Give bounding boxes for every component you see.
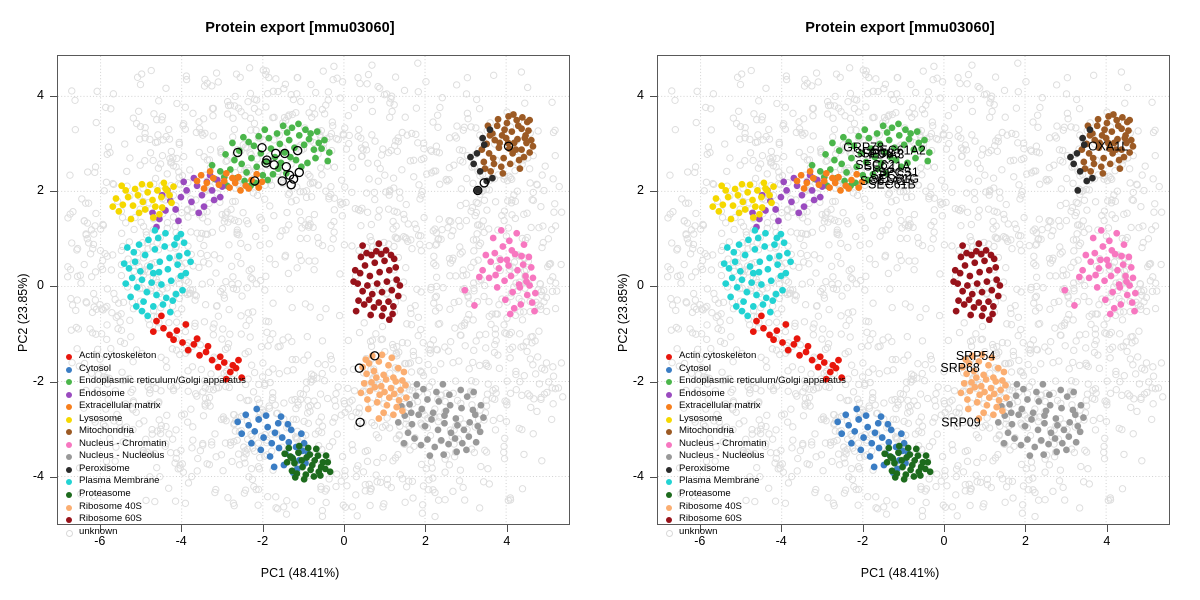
legend-item: Endosome (663, 388, 846, 401)
legend-item-label: Nucleus - Nucleolus (79, 450, 164, 461)
panel-right: Protein export [mmu03060] GRP78SRP72SEC6… (600, 0, 1200, 600)
legend-swatch-icon (66, 467, 72, 473)
legend-swatch-icon (666, 505, 672, 511)
y-tick-label: -2 (0, 374, 44, 388)
legend-swatch-icon (666, 367, 672, 373)
gene-label: SRP68 (940, 361, 979, 375)
legend-swatch-icon (666, 442, 672, 448)
panel-right-legend: Actin cytoskeletonCytosolEndoplasmic ret… (663, 350, 846, 538)
legend-item: Cytosol (63, 363, 246, 376)
x-tick-label: -2 (843, 534, 883, 548)
gene-label: OXA1L (1088, 139, 1128, 153)
legend-item-label: Extracellular matrix (679, 400, 761, 411)
legend-item: Proteasome (663, 488, 846, 501)
y-tick-label: 2 (0, 183, 44, 197)
panel-left-legend: Actin cytoskeletonCytosolEndoplasmic ret… (63, 350, 246, 538)
legend-item: Nucleus - Nucleolus (663, 450, 846, 463)
legend-swatch-icon (666, 492, 672, 498)
x-tick-mark (425, 525, 426, 532)
y-tick-mark (650, 477, 657, 478)
legend-item: Cytosol (663, 363, 846, 376)
legend-item: Nucleus - Chromatin (663, 438, 846, 451)
legend-item-label: Endoplasmic reticulum/Golgi apparatus (79, 375, 246, 386)
legend-item: Mitochondria (63, 425, 246, 438)
legend-item: Lysosome (63, 413, 246, 426)
legend-swatch-icon (666, 354, 672, 360)
x-tick-label: 0 (924, 534, 964, 548)
legend-item: Actin cytoskeleton (663, 350, 846, 363)
legend-item-label: Ribosome 40S (79, 501, 142, 512)
legend-swatch-icon (666, 467, 672, 473)
legend-item: Nucleus - Nucleolus (63, 450, 246, 463)
legend-swatch-icon (66, 404, 72, 410)
legend-item: Mitochondria (663, 425, 846, 438)
legend-item: Actin cytoskeleton (63, 350, 246, 363)
legend-item: Peroxisome (63, 463, 246, 476)
legend-item: Nucleus - Chromatin (63, 438, 246, 451)
legend-swatch-icon (66, 392, 72, 398)
x-tick-mark (263, 525, 264, 532)
legend-item-label: Endosome (79, 388, 125, 399)
legend-item-label: Endoplasmic reticulum/Golgi apparatus (679, 375, 846, 386)
y-tick-label: 4 (600, 88, 644, 102)
legend-item-label: Proteasome (679, 488, 731, 499)
y-tick-mark (50, 286, 57, 287)
y-tick-mark (650, 191, 657, 192)
legend-item-label: Ribosome 60S (79, 513, 142, 524)
panel-right-x-axis-label: PC1 (48.41%) (600, 566, 1200, 580)
x-tick-mark (344, 525, 345, 532)
x-tick-label: 2 (405, 534, 445, 548)
legend-item: Extracellular matrix (663, 400, 846, 413)
legend-item: Plasma Membrane (663, 475, 846, 488)
legend-swatch-icon (66, 492, 72, 498)
y-tick-label: -4 (0, 469, 44, 483)
legend-item-label: Peroxisome (79, 463, 130, 474)
legend-item: Ribosome 40S (663, 501, 846, 514)
y-tick-mark (50, 477, 57, 478)
legend-item-label: Nucleus - Chromatin (679, 438, 766, 449)
panel-left-y-axis-label: PC2 (23.85%) (16, 273, 30, 352)
legend-item: unknown (663, 526, 846, 539)
x-tick-label: -2 (243, 534, 283, 548)
y-tick-mark (50, 191, 57, 192)
gene-label: SRP09 (941, 415, 980, 429)
legend-swatch-icon (666, 454, 672, 460)
legend-item: Ribosome 60S (63, 513, 246, 526)
series-ribosome-60s (950, 240, 1003, 323)
legend-item-label: Endosome (679, 388, 725, 399)
legend-swatch-icon (666, 417, 672, 423)
legend-item-label: Mitochondria (79, 425, 134, 436)
y-tick-label: 4 (0, 88, 44, 102)
legend-item-label: unknown (679, 526, 717, 537)
legend-item: Lysosome (663, 413, 846, 426)
legend-item-label: Cytosol (679, 363, 711, 374)
legend-item-label: Extracellular matrix (79, 400, 161, 411)
legend-swatch-icon (666, 517, 672, 523)
legend-item-label: Plasma Membrane (679, 475, 760, 486)
y-tick-mark (650, 382, 657, 383)
legend-item-label: Peroxisome (679, 463, 730, 474)
legend-swatch-icon (66, 417, 72, 423)
legend-item: Ribosome 60S (663, 513, 846, 526)
panel-left-title: Protein export [mmu03060] (0, 20, 600, 36)
y-tick-mark (650, 286, 657, 287)
legend-swatch-icon (666, 530, 673, 537)
legend-swatch-icon (66, 505, 72, 511)
legend-swatch-icon (666, 429, 672, 435)
gene-label: SEC61B (868, 178, 916, 192)
y-tick-mark (650, 96, 657, 97)
legend-item-label: Cytosol (79, 363, 111, 374)
legend-swatch-icon (66, 354, 72, 360)
y-tick-mark (50, 382, 57, 383)
legend-item-label: Nucleus - Nucleolus (679, 450, 764, 461)
x-tick-mark (1107, 525, 1108, 532)
legend-swatch-icon (66, 367, 72, 373)
legend-item-label: Ribosome 40S (679, 501, 742, 512)
legend-item-label: Mitochondria (679, 425, 734, 436)
legend-item: Endoplasmic reticulum/Golgi apparatus (663, 375, 846, 388)
legend-swatch-icon (66, 530, 73, 537)
y-tick-label: 2 (600, 183, 644, 197)
legend-swatch-icon (666, 392, 672, 398)
y-tick-label: -2 (600, 374, 644, 388)
legend-swatch-icon (66, 379, 72, 385)
y-tick-mark (50, 96, 57, 97)
x-tick-mark (863, 525, 864, 532)
legend-swatch-icon (666, 379, 672, 385)
legend-item-label: Nucleus - Chromatin (79, 438, 166, 449)
legend-item: Endoplasmic reticulum/Golgi apparatus (63, 375, 246, 388)
x-tick-mark (507, 525, 508, 532)
y-tick-label: -4 (600, 469, 644, 483)
panel-right-y-axis-label: PC2 (23.85%) (616, 273, 630, 352)
legend-swatch-icon (66, 454, 72, 460)
panel-left: Protein export [mmu03060] -6-4-2024-4-20… (0, 0, 600, 600)
legend-swatch-icon (66, 479, 72, 485)
legend-item: Endosome (63, 388, 246, 401)
legend-item-label: Lysosome (679, 413, 722, 424)
legend-item: Proteasome (63, 488, 246, 501)
legend-item-label: unknown (79, 526, 117, 537)
gene-label: SEC61A2 (871, 144, 926, 158)
legend-item: Extracellular matrix (63, 400, 246, 413)
legend-item: unknown (63, 526, 246, 539)
legend-item-label: Ribosome 60S (679, 513, 742, 524)
series-ribosome-60s (350, 240, 403, 323)
legend-swatch-icon (66, 442, 72, 448)
x-tick-label: 4 (487, 534, 527, 548)
legend-item: Plasma Membrane (63, 475, 246, 488)
x-tick-label: 4 (1087, 534, 1127, 548)
legend-item-label: Proteasome (79, 488, 131, 499)
legend-item-label: Actin cytoskeleton (679, 350, 756, 361)
x-tick-mark (1025, 525, 1026, 532)
legend-swatch-icon (666, 404, 672, 410)
x-tick-label: 0 (324, 534, 364, 548)
legend-item-label: Plasma Membrane (79, 475, 160, 486)
panel-right-title: Protein export [mmu03060] (600, 20, 1200, 36)
legend-item-label: Lysosome (79, 413, 122, 424)
legend-swatch-icon (66, 517, 72, 523)
x-tick-label: 2 (1005, 534, 1045, 548)
legend-item: Peroxisome (663, 463, 846, 476)
legend-item: Ribosome 40S (63, 501, 246, 514)
pca-figure: Protein export [mmu03060] -6-4-2024-4-20… (0, 0, 1200, 600)
legend-swatch-icon (666, 479, 672, 485)
legend-item-label: Actin cytoskeleton (79, 350, 156, 361)
legend-swatch-icon (66, 429, 72, 435)
panel-left-x-axis-label: PC1 (48.41%) (0, 566, 600, 580)
x-tick-mark (944, 525, 945, 532)
